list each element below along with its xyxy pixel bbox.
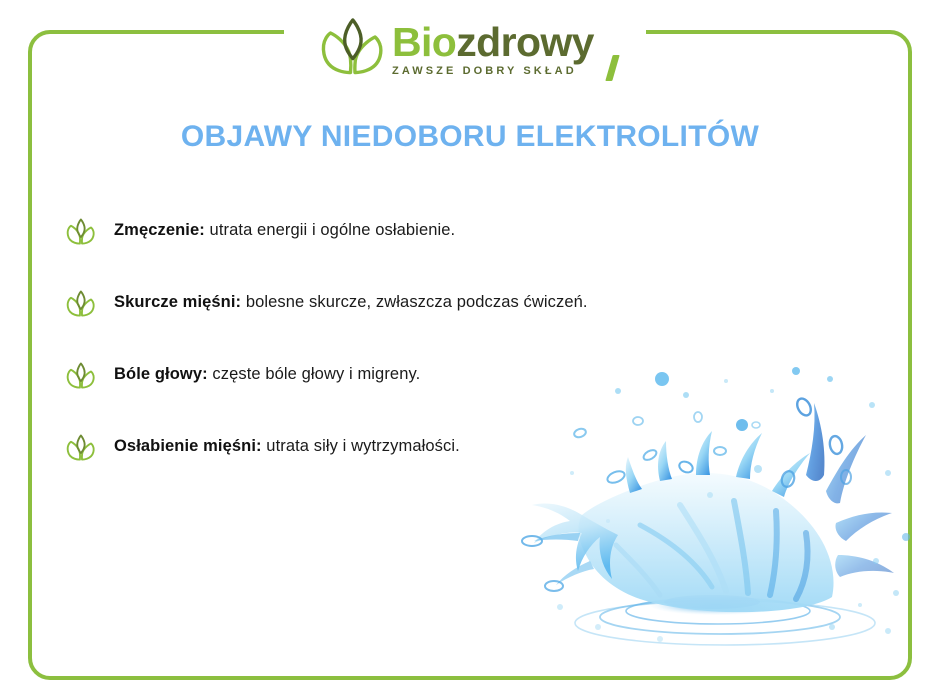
list-item-description: utrata siły i wytrzymałości.: [262, 437, 460, 455]
brand-logo: Biozdrowy ZAWSZE DOBRY SKŁAD: [320, 12, 610, 84]
list-item-description: bolesne skurcze, zwłaszcza podczas ćwicz…: [241, 293, 587, 311]
list-item: Osłabienie mięśni: utrata siły i wytrzym…: [66, 432, 866, 504]
list-item: Zmęczenie: utrata energii i ogólne osłab…: [66, 216, 866, 288]
list-item: Skurcze mięśni: bolesne skurcze, zwłaszc…: [66, 288, 866, 360]
list-item-text: Osłabienie mięśni: utrata siły i wytrzym…: [114, 432, 460, 458]
list-item: Bóle głowy: częste bóle głowy i migreny.: [66, 360, 866, 432]
list-item-term: Zmęczenie:: [114, 221, 205, 239]
list-item-description: częste bóle głowy i migreny.: [208, 365, 421, 383]
list-item-text: Skurcze mięśni: bolesne skurcze, zwłaszc…: [114, 288, 588, 314]
symptom-list: Zmęczenie: utrata energii i ogólne osłab…: [66, 216, 866, 504]
brand-tagline: ZAWSZE DOBRY SKŁAD: [392, 65, 610, 77]
three-leaf-icon: [320, 17, 386, 79]
leaf-sprout-icon: [66, 290, 96, 318]
leaf-sprout-icon: [66, 434, 96, 462]
list-item-term: Bóle głowy:: [114, 365, 208, 383]
list-item-text: Bóle głowy: częste bóle głowy i migreny.: [114, 360, 420, 386]
leaf-sprout-icon: [66, 362, 96, 390]
list-item-text: Zmęczenie: utrata energii i ogólne osłab…: [114, 216, 455, 242]
list-item-description: utrata energii i ogólne osłabienie.: [205, 221, 455, 239]
page-title: OBJAWY NIEDOBORU ELEKTROLITÓW: [0, 120, 940, 154]
brand-name-zdrowy: zdrowy: [456, 19, 594, 65]
list-item-term: Skurcze mięśni:: [114, 293, 241, 311]
brand-wordmark: Biozdrowy ZAWSZE DOBRY SKŁAD: [392, 20, 610, 77]
list-item-term: Osłabienie mięśni:: [114, 437, 262, 455]
leaf-sprout-icon: [66, 218, 96, 246]
brand-name-bio: Bio: [392, 19, 456, 65]
brand-name: Biozdrowy: [392, 22, 610, 63]
infographic-page: Biozdrowy ZAWSZE DOBRY SKŁAD OBJAWY NIED…: [0, 0, 940, 700]
